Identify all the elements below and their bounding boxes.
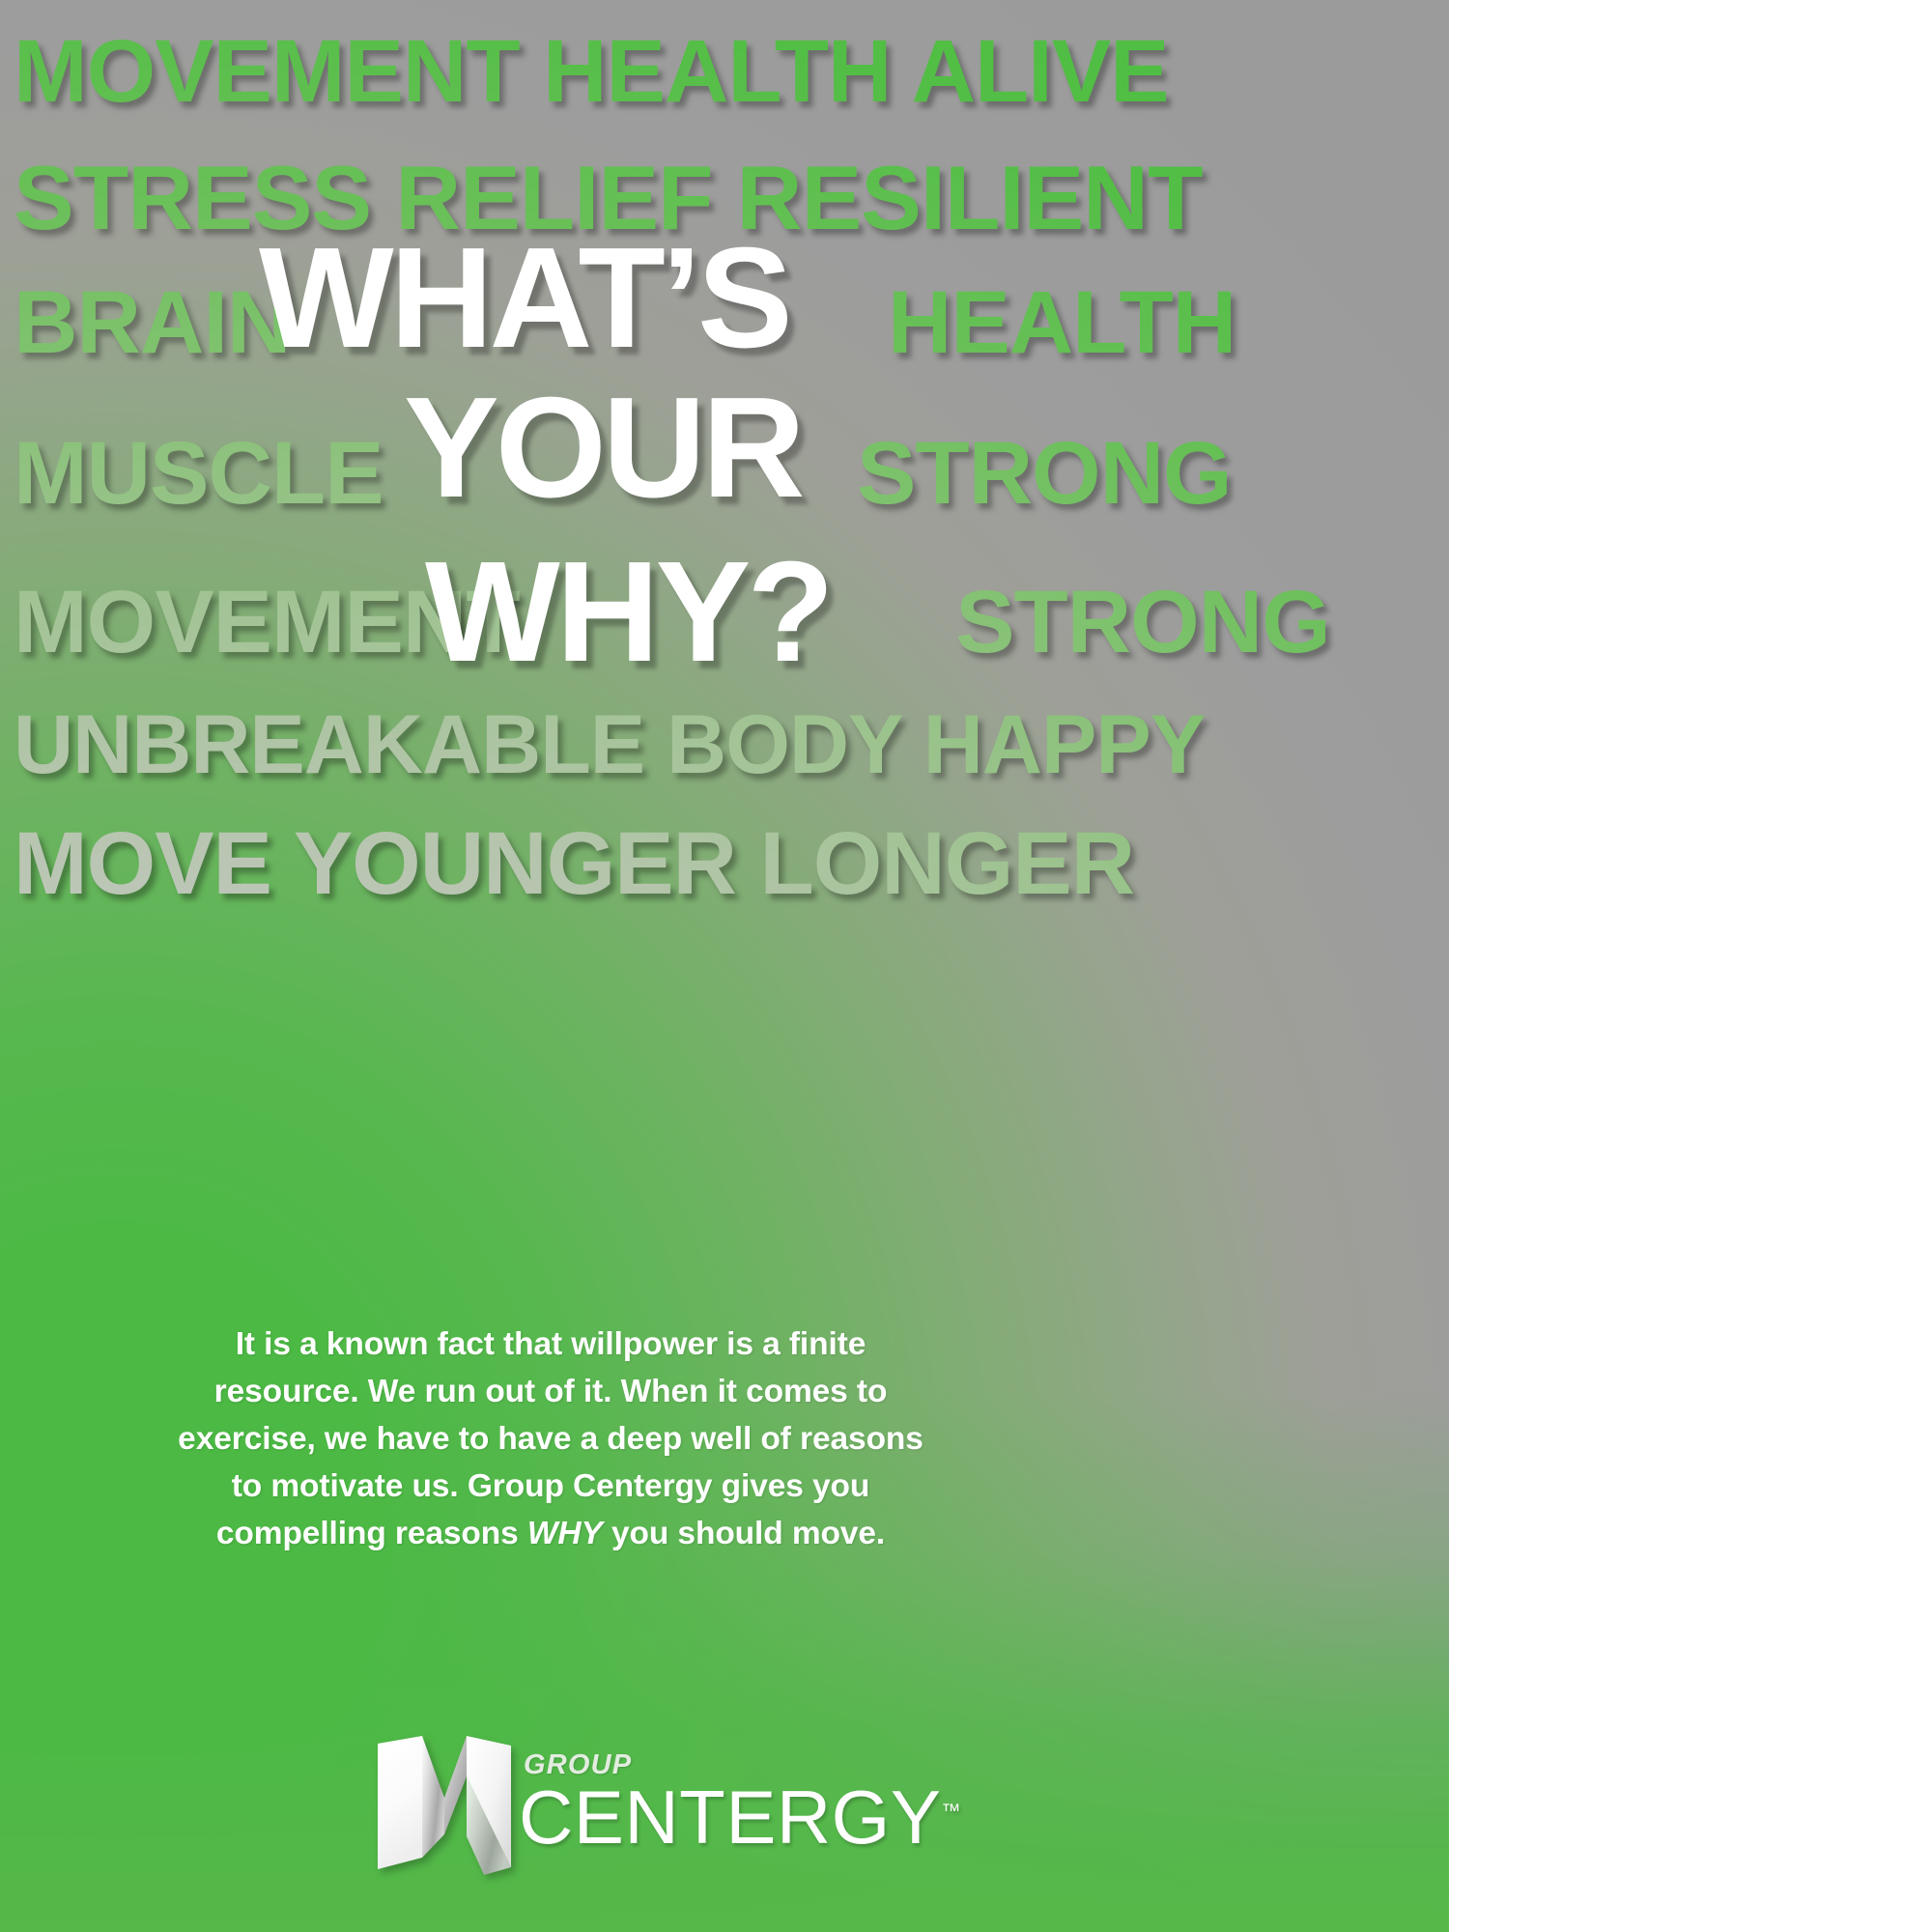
word-row-7-text: MOVE YOUNGER LONGER <box>14 819 1134 908</box>
body-copy-part-2: you should move. <box>603 1516 885 1551</box>
word-row-4-text-left: MUSCLE <box>14 429 383 518</box>
headline-line-2: YOUR <box>404 382 802 515</box>
logo-wordmark: GROUP CENTERGY™ <box>519 1751 960 1860</box>
trademark-symbol: ™ <box>941 1801 960 1822</box>
logo-brand-name: CENTERGY™ <box>519 1781 960 1854</box>
body-copy-emphasis: WHY <box>527 1516 603 1551</box>
headline-line-3: WHY? <box>425 546 831 679</box>
headline-line-1: WHAT’S <box>259 232 789 365</box>
body-copy: It is a known fact that willpower is a f… <box>164 1321 937 1558</box>
word-row-3-text-left: BRAIN <box>14 278 290 367</box>
word-row-5-text-right: STRONG <box>955 578 1330 667</box>
group-centergy-logo: GROUP CENTERGY™ <box>372 1734 960 1877</box>
word-row-1: MOVEMENT HEALTH ALIVE <box>14 27 1449 116</box>
word-row-3-text-right: HEALTH <box>888 278 1236 367</box>
logo-brand-name-text: CENTERGY <box>519 1775 941 1860</box>
group-centergy-m-mark <box>372 1734 517 1877</box>
word-row-1-text: MOVEMENT HEALTH ALIVE <box>14 27 1168 116</box>
poster-canvas: MOVEMENT HEALTH ALIVE STRESS RELIEF RESI… <box>0 0 1449 1932</box>
word-row-7: MOVE YOUNGER LONGER <box>14 819 1449 908</box>
word-row-4-text-right: STRONG <box>857 429 1232 518</box>
word-row-6-text: UNBREAKABLE BODY HAPPY <box>14 703 1205 786</box>
word-row-6: UNBREAKABLE BODY HAPPY <box>14 703 1449 786</box>
